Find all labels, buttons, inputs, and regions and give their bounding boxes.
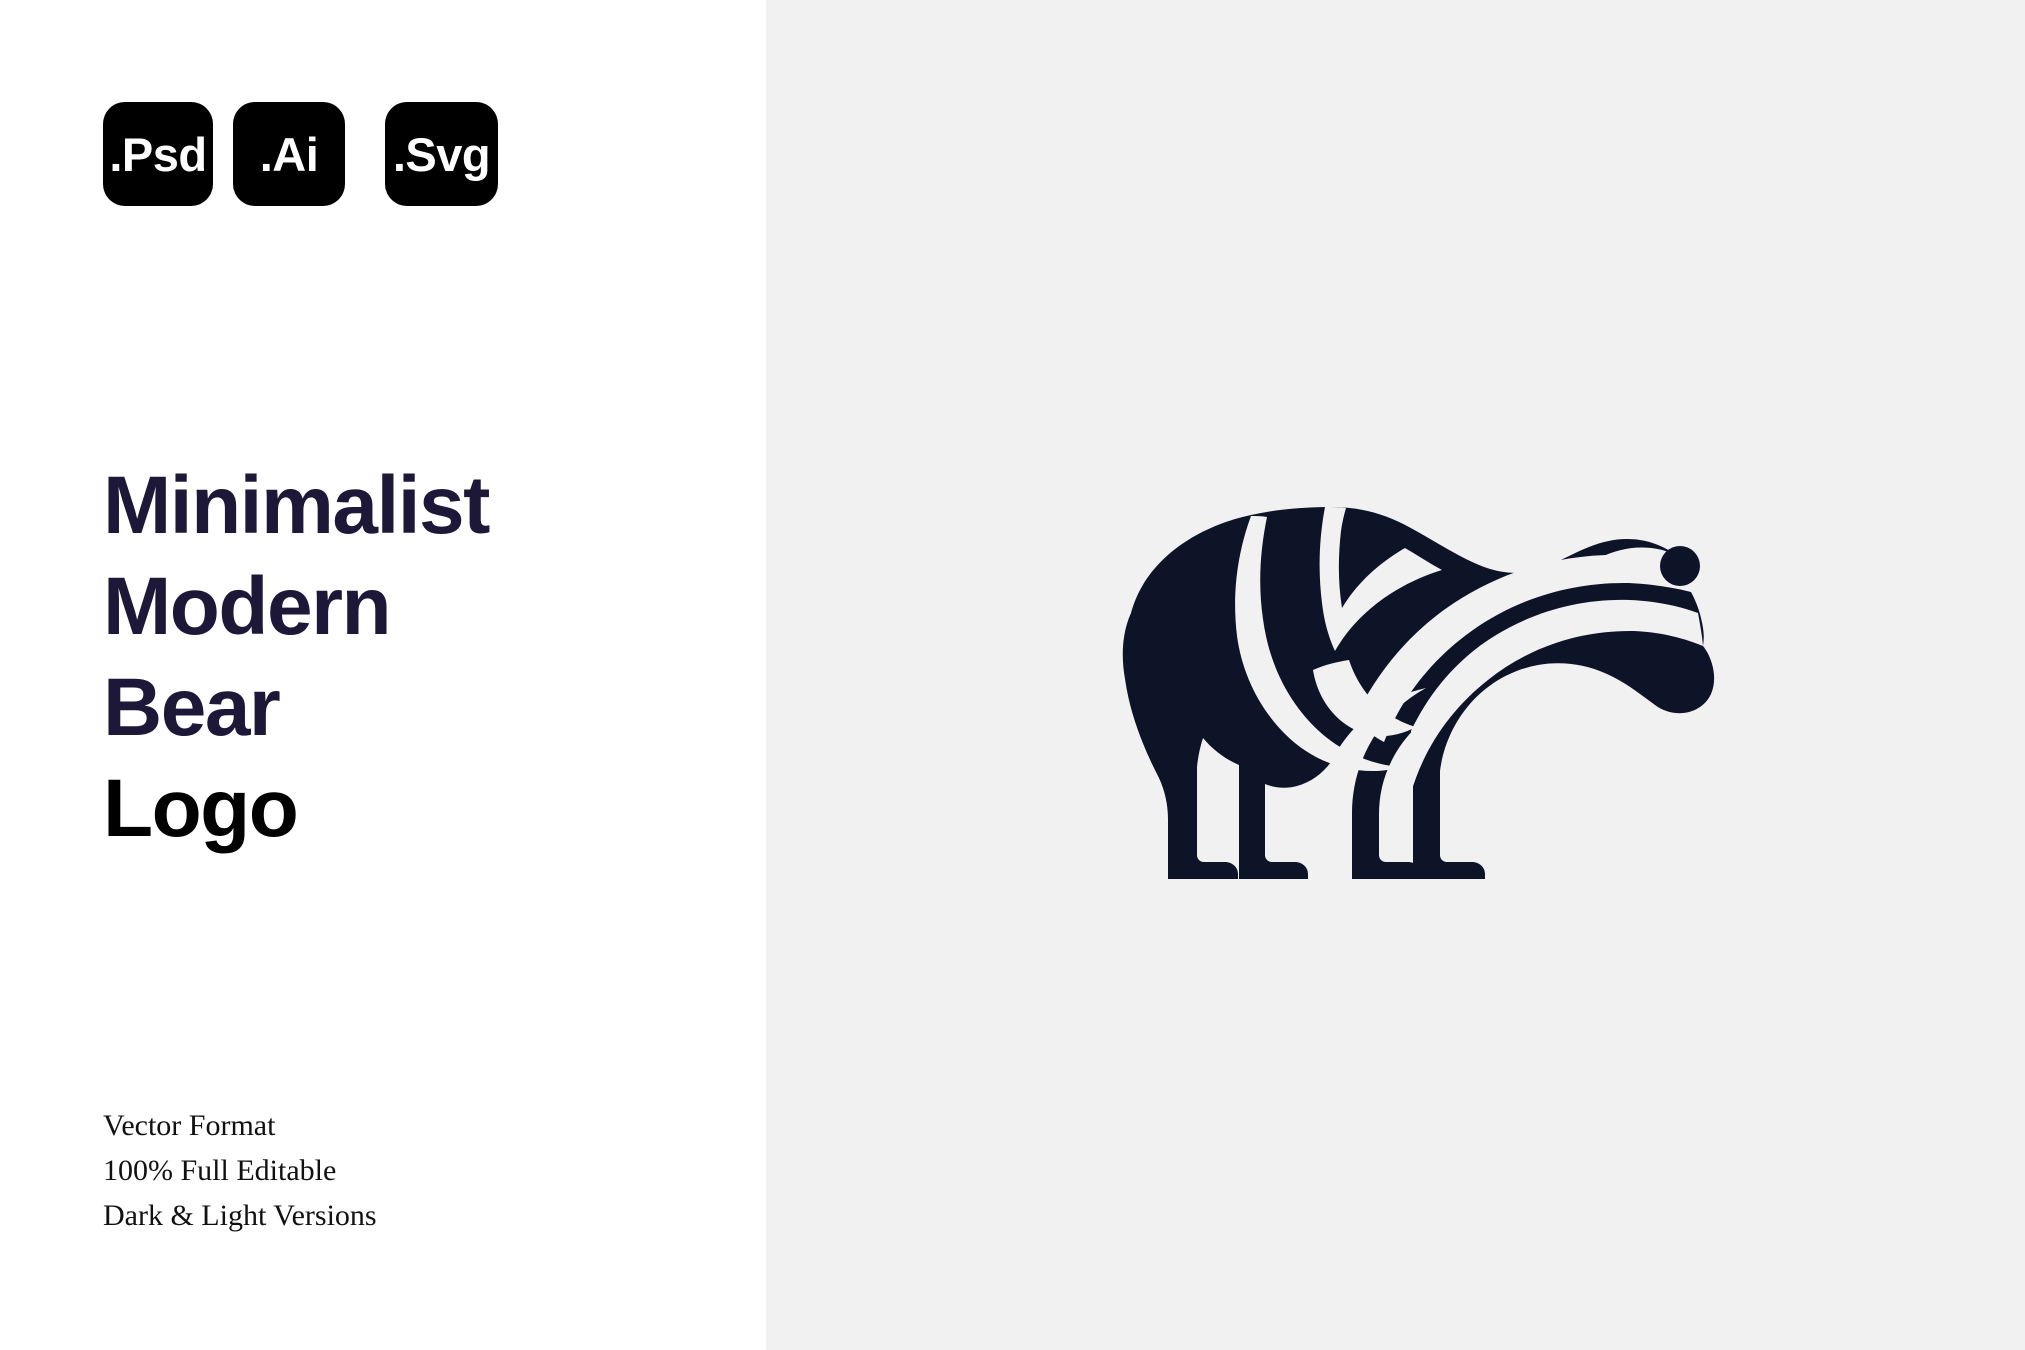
badge-psd-label: .Psd	[109, 127, 206, 182]
feature-item-versions: Dark & Light Versions	[103, 1193, 377, 1238]
feature-item-vector-format: Vector Format	[103, 1103, 377, 1148]
feature-list: Vector Format 100% Full Editable Dark & …	[103, 1103, 377, 1238]
badge-ai[interactable]: .Ai	[233, 102, 345, 206]
logo-showcase-panel	[766, 0, 2025, 1350]
title-line-2: Modern	[103, 556, 489, 657]
left-info-panel: .Psd .Ai .Svg Minimalist Modern Bear Log…	[0, 0, 766, 1350]
feature-item-editable: 100% Full Editable	[103, 1148, 377, 1193]
badge-ai-label: .Ai	[260, 127, 319, 182]
title-line-4: Logo	[103, 758, 489, 859]
bear-logo-container	[766, 0, 2025, 1350]
badge-svg[interactable]: .Svg	[385, 102, 498, 206]
title-line-3: Bear	[103, 657, 489, 758]
badge-svg-label: .Svg	[393, 127, 490, 182]
badge-psd[interactable]: .Psd	[103, 102, 213, 206]
poster-canvas: .Psd .Ai .Svg Minimalist Modern Bear Log…	[0, 0, 2025, 1350]
page-title: Minimalist Modern Bear Logo	[103, 455, 489, 859]
title-line-1: Minimalist	[103, 455, 489, 556]
bear-logo-icon	[1073, 435, 1733, 895]
file-format-badge-row: .Psd .Ai .Svg	[103, 102, 498, 206]
